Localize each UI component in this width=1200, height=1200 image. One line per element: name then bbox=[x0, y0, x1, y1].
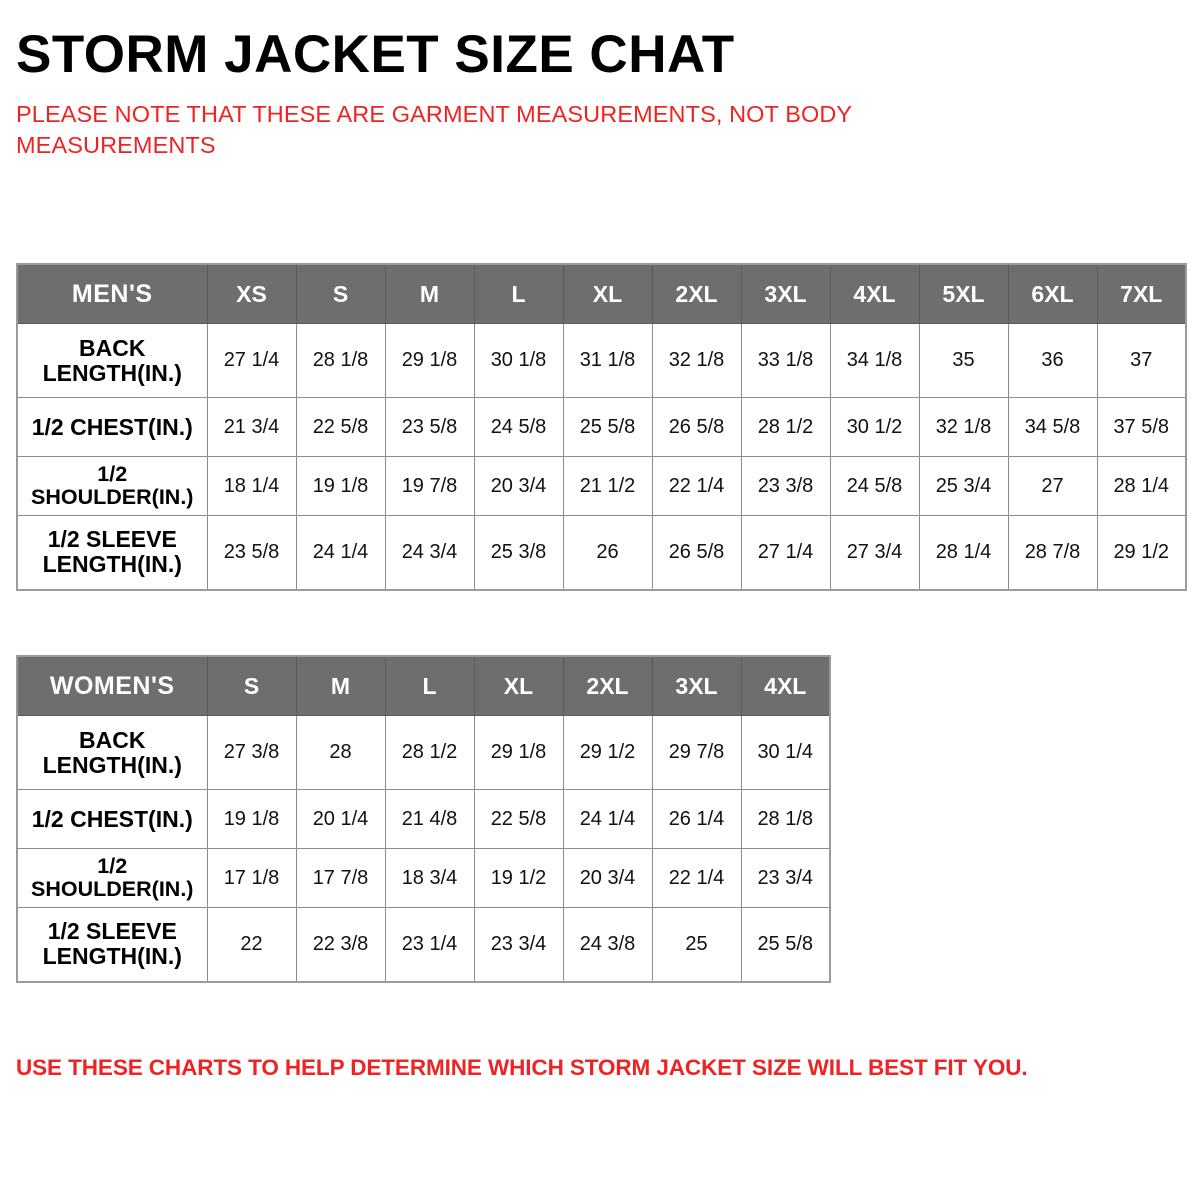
label-line-1: 1/2 SLEEVE bbox=[48, 526, 177, 552]
page-title: STORM JACKET SIZE CHAT bbox=[16, 0, 1184, 81]
label-line-2: LENGTH(IN.) bbox=[43, 551, 182, 577]
cell: 22 1/4 bbox=[652, 849, 741, 908]
label-line-2: LENGTH(IN.) bbox=[43, 360, 182, 386]
cell: 34 5/8 bbox=[1008, 398, 1097, 457]
mens-size-table: MEN'S XS S M L XL 2XL 3XL 4XL 5XL 6XL 7X… bbox=[16, 263, 1187, 591]
label-line-1: BACK bbox=[79, 335, 145, 361]
cell: 21 1/2 bbox=[563, 457, 652, 516]
cell: 29 7/8 bbox=[652, 716, 741, 790]
cell: 31 1/8 bbox=[563, 324, 652, 398]
mens-table-head: MEN'S XS S M L XL 2XL 3XL 4XL 5XL 6XL 7X… bbox=[17, 264, 1186, 324]
cell: 26 5/8 bbox=[652, 398, 741, 457]
mens-col-m: M bbox=[385, 264, 474, 324]
mens-row-label-shoulder: 1/2 SHOULDER(IN.) bbox=[17, 457, 207, 516]
mens-col-xs: XS bbox=[207, 264, 296, 324]
cell: 37 5/8 bbox=[1097, 398, 1186, 457]
cell: 21 4/8 bbox=[385, 790, 474, 849]
table-row: BACK LENGTH(IN.) 27 3/8 28 28 1/2 29 1/8… bbox=[17, 716, 830, 790]
cell: 25 3/8 bbox=[474, 516, 563, 590]
usage-note: USE THESE CHARTS TO HELP DETERMINE WHICH… bbox=[16, 1056, 1028, 1081]
cell: 19 1/8 bbox=[207, 790, 296, 849]
cell: 29 1/8 bbox=[385, 324, 474, 398]
cell: 26 1/4 bbox=[652, 790, 741, 849]
cell: 26 bbox=[563, 516, 652, 590]
cell: 24 5/8 bbox=[474, 398, 563, 457]
cell: 29 1/2 bbox=[563, 716, 652, 790]
cell: 20 3/4 bbox=[563, 849, 652, 908]
womens-row-label-back-length: BACK LENGTH(IN.) bbox=[17, 716, 207, 790]
cell: 32 1/8 bbox=[919, 398, 1008, 457]
cell: 24 5/8 bbox=[830, 457, 919, 516]
table-row: 1/2 CHEST(IN.) 19 1/8 20 1/4 21 4/8 22 5… bbox=[17, 790, 830, 849]
womens-corner-label: WOMEN'S bbox=[17, 656, 207, 716]
cell: 24 3/4 bbox=[385, 516, 474, 590]
mens-col-5xl: 5XL bbox=[919, 264, 1008, 324]
cell: 27 1/4 bbox=[207, 324, 296, 398]
cell: 25 bbox=[652, 908, 741, 982]
cell: 37 bbox=[1097, 324, 1186, 398]
table-row: 1/2 CHEST(IN.) 21 3/4 22 5/8 23 5/8 24 5… bbox=[17, 398, 1186, 457]
cell: 32 1/8 bbox=[652, 324, 741, 398]
mens-col-l: L bbox=[474, 264, 563, 324]
cell: 20 1/4 bbox=[296, 790, 385, 849]
cell: 25 5/8 bbox=[563, 398, 652, 457]
label-line-2: LENGTH(IN.) bbox=[43, 752, 182, 778]
cell: 29 1/2 bbox=[1097, 516, 1186, 590]
womens-col-xl: XL bbox=[474, 656, 563, 716]
cell: 22 1/4 bbox=[652, 457, 741, 516]
womens-row-label-shoulder: 1/2 SHOULDER(IN.) bbox=[17, 849, 207, 908]
womens-col-4xl: 4XL bbox=[741, 656, 830, 716]
mens-row-label-back-length: BACK LENGTH(IN.) bbox=[17, 324, 207, 398]
cell: 19 1/8 bbox=[296, 457, 385, 516]
cell: 28 1/4 bbox=[1097, 457, 1186, 516]
garment-measurement-note: PLEASE NOTE THAT THESE ARE GARMENT MEASU… bbox=[16, 81, 976, 162]
cell: 35 bbox=[919, 324, 1008, 398]
mens-col-xl: XL bbox=[563, 264, 652, 324]
cell: 34 1/8 bbox=[830, 324, 919, 398]
mens-corner-label: MEN'S bbox=[17, 264, 207, 324]
cell: 36 bbox=[1008, 324, 1097, 398]
womens-col-2xl: 2XL bbox=[563, 656, 652, 716]
cell: 28 1/4 bbox=[919, 516, 1008, 590]
womens-size-table: WOMEN'S S M L XL 2XL 3XL 4XL BACK LENGTH… bbox=[16, 655, 831, 983]
mens-row-label-sleeve-length: 1/2 SLEEVE LENGTH(IN.) bbox=[17, 516, 207, 590]
cell: 20 3/4 bbox=[474, 457, 563, 516]
cell: 30 1/2 bbox=[830, 398, 919, 457]
size-chart-page: STORM JACKET SIZE CHAT PLEASE NOTE THAT … bbox=[0, 0, 1200, 1200]
cell: 27 bbox=[1008, 457, 1097, 516]
table-row: 1/2 SLEEVE LENGTH(IN.) 23 5/8 24 1/4 24 … bbox=[17, 516, 1186, 590]
mens-row-label-chest: 1/2 CHEST(IN.) bbox=[17, 398, 207, 457]
womens-table-body: BACK LENGTH(IN.) 27 3/8 28 28 1/2 29 1/8… bbox=[17, 716, 830, 982]
cell: 23 3/4 bbox=[474, 908, 563, 982]
cell: 19 1/2 bbox=[474, 849, 563, 908]
table-row: 1/2 SHOULDER(IN.) 18 1/4 19 1/8 19 7/8 2… bbox=[17, 457, 1186, 516]
cell: 29 1/8 bbox=[474, 716, 563, 790]
cell: 26 5/8 bbox=[652, 516, 741, 590]
cell: 28 1/2 bbox=[385, 716, 474, 790]
womens-col-m: M bbox=[296, 656, 385, 716]
cell: 30 1/4 bbox=[741, 716, 830, 790]
womens-table-head: WOMEN'S S M L XL 2XL 3XL 4XL bbox=[17, 656, 830, 716]
womens-row-label-sleeve-length: 1/2 SLEEVE LENGTH(IN.) bbox=[17, 908, 207, 982]
cell: 24 1/4 bbox=[296, 516, 385, 590]
mens-table-body: BACK LENGTH(IN.) 27 1/4 28 1/8 29 1/8 30… bbox=[17, 324, 1186, 590]
cell: 30 1/8 bbox=[474, 324, 563, 398]
cell: 28 1/8 bbox=[296, 324, 385, 398]
label-line-2: LENGTH(IN.) bbox=[43, 943, 182, 969]
cell: 23 5/8 bbox=[207, 516, 296, 590]
cell: 23 1/4 bbox=[385, 908, 474, 982]
mens-col-3xl: 3XL bbox=[741, 264, 830, 324]
mens-col-7xl: 7XL bbox=[1097, 264, 1186, 324]
cell: 21 3/4 bbox=[207, 398, 296, 457]
cell: 28 bbox=[296, 716, 385, 790]
cell: 17 1/8 bbox=[207, 849, 296, 908]
womens-col-3xl: 3XL bbox=[652, 656, 741, 716]
cell: 19 7/8 bbox=[385, 457, 474, 516]
mens-col-s: S bbox=[296, 264, 385, 324]
cell: 23 5/8 bbox=[385, 398, 474, 457]
cell: 25 3/4 bbox=[919, 457, 1008, 516]
table-row: BACK LENGTH(IN.) 27 1/4 28 1/8 29 1/8 30… bbox=[17, 324, 1186, 398]
mens-header-row: MEN'S XS S M L XL 2XL 3XL 4XL 5XL 6XL 7X… bbox=[17, 264, 1186, 324]
table-row: 1/2 SLEEVE LENGTH(IN.) 22 22 3/8 23 1/4 … bbox=[17, 908, 830, 982]
label-line-1: BACK bbox=[79, 727, 145, 753]
cell: 17 7/8 bbox=[296, 849, 385, 908]
cell: 18 1/4 bbox=[207, 457, 296, 516]
label-line-1: 1/2 SLEEVE bbox=[48, 918, 177, 944]
cell: 24 3/8 bbox=[563, 908, 652, 982]
cell: 27 1/4 bbox=[741, 516, 830, 590]
womens-col-l: L bbox=[385, 656, 474, 716]
mens-col-2xl: 2XL bbox=[652, 264, 741, 324]
cell: 28 7/8 bbox=[1008, 516, 1097, 590]
cell: 18 3/4 bbox=[385, 849, 474, 908]
cell: 28 1/2 bbox=[741, 398, 830, 457]
mens-col-6xl: 6XL bbox=[1008, 264, 1097, 324]
womens-col-s: S bbox=[207, 656, 296, 716]
womens-row-label-chest: 1/2 CHEST(IN.) bbox=[17, 790, 207, 849]
cell: 22 bbox=[207, 908, 296, 982]
cell: 25 5/8 bbox=[741, 908, 830, 982]
cell: 22 5/8 bbox=[474, 790, 563, 849]
cell: 27 3/4 bbox=[830, 516, 919, 590]
cell: 23 3/4 bbox=[741, 849, 830, 908]
cell: 27 3/8 bbox=[207, 716, 296, 790]
cell: 22 3/8 bbox=[296, 908, 385, 982]
mens-col-4xl: 4XL bbox=[830, 264, 919, 324]
cell: 22 5/8 bbox=[296, 398, 385, 457]
cell: 28 1/8 bbox=[741, 790, 830, 849]
table-row: 1/2 SHOULDER(IN.) 17 1/8 17 7/8 18 3/4 1… bbox=[17, 849, 830, 908]
womens-header-row: WOMEN'S S M L XL 2XL 3XL 4XL bbox=[17, 656, 830, 716]
cell: 33 1/8 bbox=[741, 324, 830, 398]
cell: 24 1/4 bbox=[563, 790, 652, 849]
cell: 23 3/8 bbox=[741, 457, 830, 516]
